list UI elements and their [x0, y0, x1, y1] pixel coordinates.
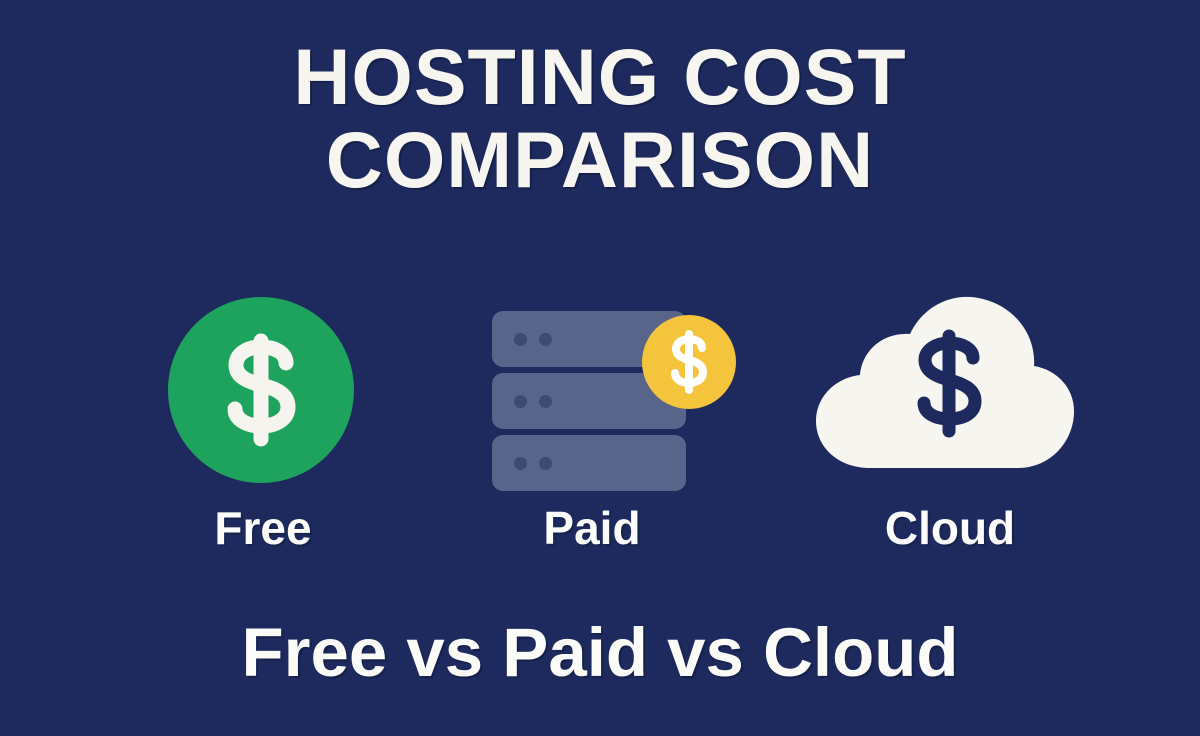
server-led-dot [539, 395, 552, 408]
green-dollar-circle-icon [168, 297, 354, 483]
caption-row: Free Paid Cloud [0, 500, 1200, 560]
server-led-dot [514, 395, 527, 408]
poster-canvas: HOSTING COST COMPARISON [0, 0, 1200, 736]
title-line-2: COMPARISON [0, 121, 1200, 198]
subtitle: Free vs Paid vs Cloud [0, 612, 1200, 694]
icon-row [0, 280, 1200, 495]
caption-cloud: Cloud [850, 500, 1050, 556]
server-led-dot [539, 333, 552, 346]
title-line-1: HOSTING COST [0, 38, 1200, 115]
server-led-dot [514, 457, 527, 470]
page-title: HOSTING COST COMPARISON [0, 38, 1200, 199]
icon-column-paid[interactable] [470, 280, 720, 495]
cloud-shape [810, 290, 1080, 470]
cloud-dollar-icon [810, 290, 1080, 470]
dollar-sign-icon [168, 297, 354, 483]
server-led-dot [539, 457, 552, 470]
caption-free: Free [163, 500, 363, 556]
dollar-sign-icon [642, 315, 736, 409]
icon-column-cloud[interactable] [800, 280, 1090, 495]
caption-paid: Paid [492, 500, 692, 556]
icon-column-free[interactable] [150, 280, 375, 495]
server-bar [492, 435, 686, 491]
gold-dollar-coin-icon [642, 315, 736, 409]
server-led-dot [514, 333, 527, 346]
